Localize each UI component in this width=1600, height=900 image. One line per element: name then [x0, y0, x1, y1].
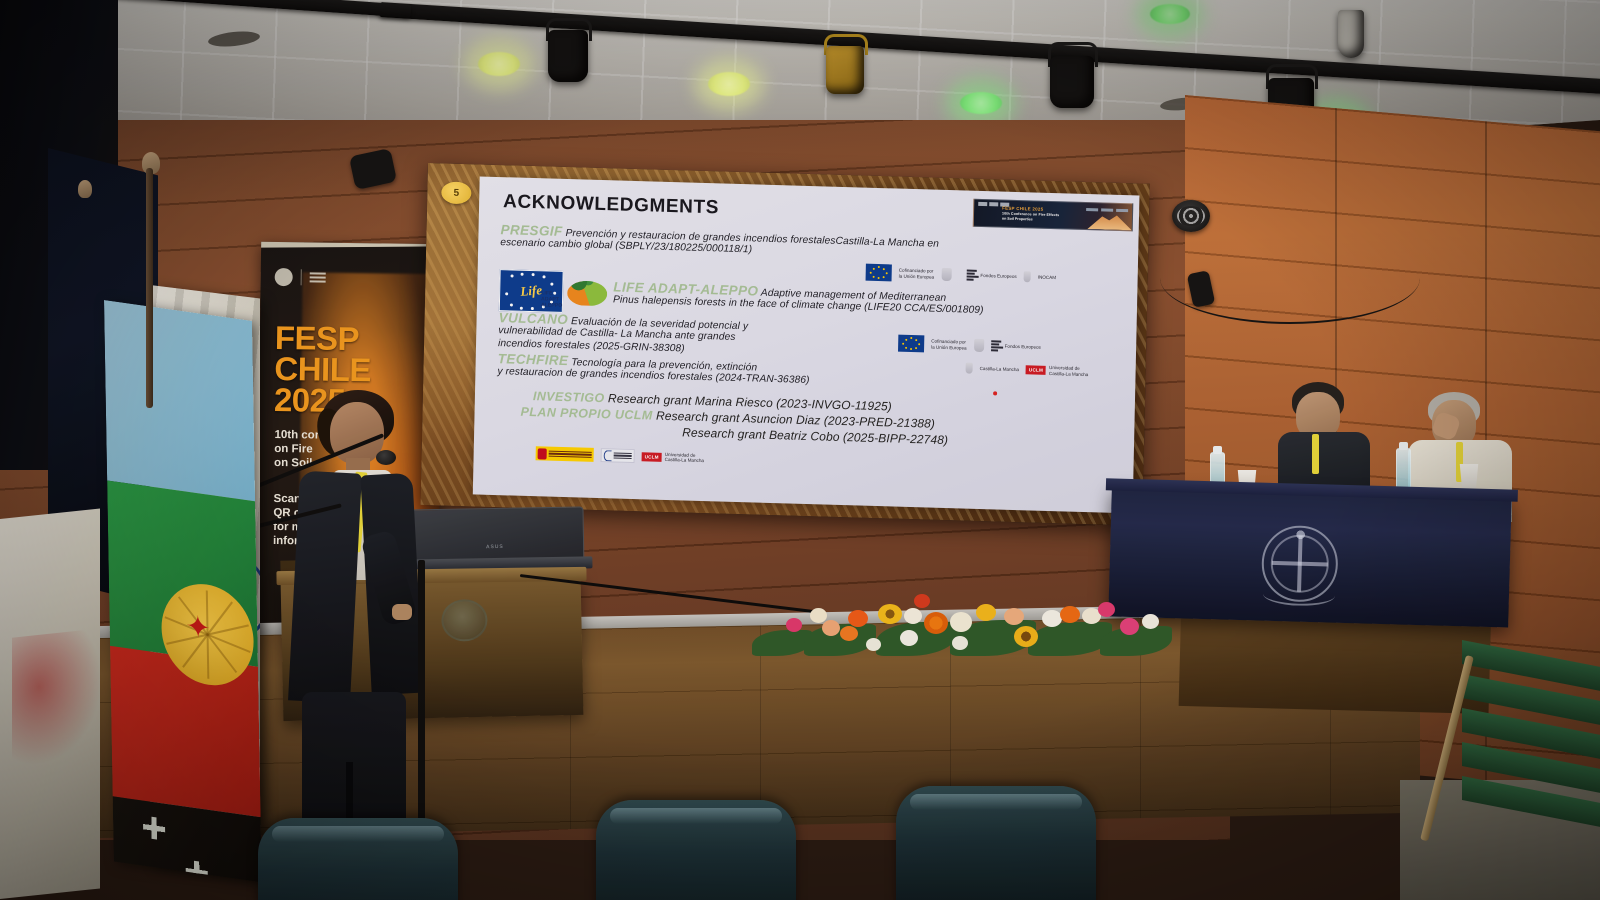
volcano-illustration	[1078, 213, 1132, 231]
stage-access-steps	[1462, 640, 1600, 867]
flower-white-1	[900, 630, 918, 646]
flower-peach-2	[1004, 608, 1024, 625]
guemil-cross-3	[130, 870, 152, 883]
flower-orange-2	[840, 626, 858, 641]
flower-sunflower-2	[1014, 626, 1038, 647]
wall-cable	[1160, 232, 1420, 324]
flower-orange-3	[1060, 606, 1080, 623]
auditorium-photo: FESP CHILE 2025 10th conf on Fire on Soi…	[0, 0, 1600, 900]
wall-led-light	[1172, 200, 1210, 232]
audience-seat-3	[896, 786, 1096, 900]
spain-government-shield-icon-2	[974, 339, 984, 352]
uclm-logo-1: UCLM Universidad deCastilla-La Mancha	[1026, 364, 1089, 377]
aleppo-pine-mark-icon	[567, 275, 608, 306]
flagpole-center	[146, 168, 153, 408]
ceiling-speaker-hanging	[1338, 10, 1364, 58]
downlight-green-3	[1150, 4, 1190, 24]
downlight-green-1	[960, 92, 1002, 114]
microphone-head	[376, 450, 396, 465]
flower-sunflower-1	[878, 604, 902, 624]
spain-government-shield-icon	[941, 268, 951, 281]
slide-conference-banner: FESP CHILE 2025 10th Conference on Fire …	[973, 199, 1134, 232]
inocam-label: INOCAM	[1038, 274, 1056, 280]
presenter-laptop: ASUS	[411, 507, 582, 572]
microphone-vertical-pole	[418, 560, 425, 860]
eu-cofinanced-label-2: Cofinanciado porla Unión Europea	[931, 339, 967, 351]
grant-program-plan-propio: PLAN PROPIO UCLM	[520, 405, 652, 423]
presenter-jacket-left	[288, 471, 362, 704]
eu-flag-icon-2	[898, 335, 924, 353]
laptop-brand-label: ASUS	[486, 544, 504, 550]
eu-cofinanced-label: Cofinanciado porla Unión Europea	[899, 268, 935, 280]
flower-white-3	[1142, 614, 1159, 629]
podium-seal-emblem	[441, 599, 488, 642]
left-flag-red-accent	[12, 628, 102, 767]
spain-crest-icon	[538, 448, 547, 459]
banner-logo-2	[310, 270, 326, 284]
mini-banner-line3: on Soil Properties	[1002, 217, 1033, 222]
flower-cream-3	[950, 612, 972, 632]
flower-white-4	[952, 636, 968, 650]
flower-white-5	[866, 638, 881, 651]
panelist-left-lanyard	[1312, 434, 1319, 474]
gold-stage-light-fixture	[826, 46, 864, 94]
university-crest-emblem	[1261, 525, 1339, 603]
presenter-hand	[392, 604, 412, 620]
funder-logos-row-3: Castilla-La Mancha UCLM Universidad deCa…	[966, 363, 1089, 378]
flagpole-finial-2	[78, 180, 92, 198]
flower-red-1	[914, 594, 930, 608]
slide-footer-logos: UCLM Universidad deCastilla-La Mancha	[536, 446, 705, 465]
spain-ministry-logo	[536, 446, 594, 462]
flower-pink-1	[786, 618, 802, 632]
flower-pink-2	[1098, 602, 1115, 617]
grant-program-investigo: INVESTIGO	[533, 389, 605, 405]
water-bottle-2	[1396, 448, 1411, 490]
downlight-warm-1	[478, 52, 520, 76]
audience-seat-1	[258, 818, 458, 900]
floral-arrangement	[752, 586, 1172, 660]
mapuche-wenufoye-flag: ✦	[104, 300, 262, 882]
crest-ribbon	[1263, 583, 1336, 607]
mini-banner-sponsor-logos	[1086, 208, 1128, 212]
flower-yellow-1	[976, 604, 996, 621]
presentation-slide: ACKNOWLEDGMENTS FESP CHILE 2025 10th Con…	[473, 176, 1140, 513]
castilla-la-mancha-shield-icon	[1024, 271, 1031, 282]
laser-pointer-dot	[993, 391, 997, 395]
agency-c-icon	[604, 450, 612, 461]
slide-title: ACKNOWLEDGMENTS	[503, 191, 719, 219]
ministry-label	[958, 272, 959, 277]
flower-orange-1	[848, 610, 868, 627]
flower-cream-2	[904, 608, 922, 624]
guemil-cross-1	[143, 816, 165, 841]
flower-pink-3	[1120, 618, 1139, 635]
life-wordmark: Life	[520, 282, 543, 300]
stage-light-fixture-1	[548, 30, 588, 82]
flower-white-2	[1042, 610, 1062, 627]
stage-light-fixture-2	[1050, 56, 1094, 108]
laptop-screen	[411, 506, 584, 563]
flower-peach-1	[822, 620, 840, 636]
castilla-label: Castilla-La Mancha	[980, 366, 1019, 373]
castilla-la-mancha-shield-icon-2	[966, 363, 973, 374]
funder-logos-row-2: Cofinanciado porla Unión Europea Fondos …	[898, 335, 1041, 356]
banner-org-logos	[275, 268, 326, 287]
flower-orange-rose	[924, 612, 948, 634]
banner-logo-1	[275, 268, 293, 286]
left-white-flag	[0, 508, 100, 900]
fondos-europeos-logo-2: Fondos Europeos	[991, 340, 1041, 352]
life-adapt-aleppo-sublabel: LIFE ADAPT ALEPPO	[541, 290, 563, 309]
projection-screen: 5 ACKNOWLEDGMENTS FESP CHILE 2025 10th C…	[421, 163, 1150, 526]
eu-flag-icon	[866, 264, 892, 282]
guemil-cross-2	[186, 860, 208, 883]
fondos-europeos-logo: Fondos Europeos	[966, 270, 1016, 282]
research-agency-logo	[601, 448, 635, 463]
audience-seat-2	[596, 800, 796, 900]
flag-band-blue	[104, 300, 255, 501]
downlight-warm-2	[708, 72, 750, 96]
mapuche-kultrun-glyph: ✦	[185, 611, 226, 651]
funder-logos-row-1: Cofinanciado porla Unión Europea Fondos …	[866, 264, 1057, 286]
uclm-logo-footer: UCLM Universidad deCastilla-La Mancha	[642, 451, 705, 464]
crest-tree-icon	[1292, 528, 1308, 542]
